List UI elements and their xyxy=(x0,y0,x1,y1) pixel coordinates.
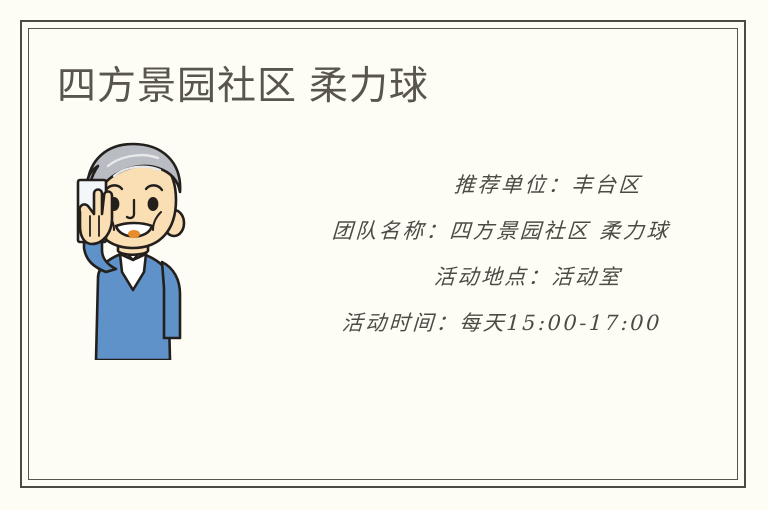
info-line-recommending-unit: 推荐单位：丰台区 xyxy=(209,162,671,208)
info-line-activity-time: 活动时间：每天15:00-17:00 xyxy=(209,300,671,346)
info-line-team-name: 团队名称：四方景园社区 柔力球 xyxy=(209,208,671,254)
elderly-man-illustration xyxy=(58,138,206,360)
page-title: 四方景园社区 柔力球 xyxy=(57,62,429,112)
activity-info-block: 推荐单位：丰台区 团队名称：四方景园社区 柔力球 活动地点：活动室 活动时间：每… xyxy=(210,162,670,346)
poster-canvas: 四方景园社区 柔力球 xyxy=(0,0,768,510)
info-line-activity-location: 活动地点：活动室 xyxy=(209,254,671,300)
